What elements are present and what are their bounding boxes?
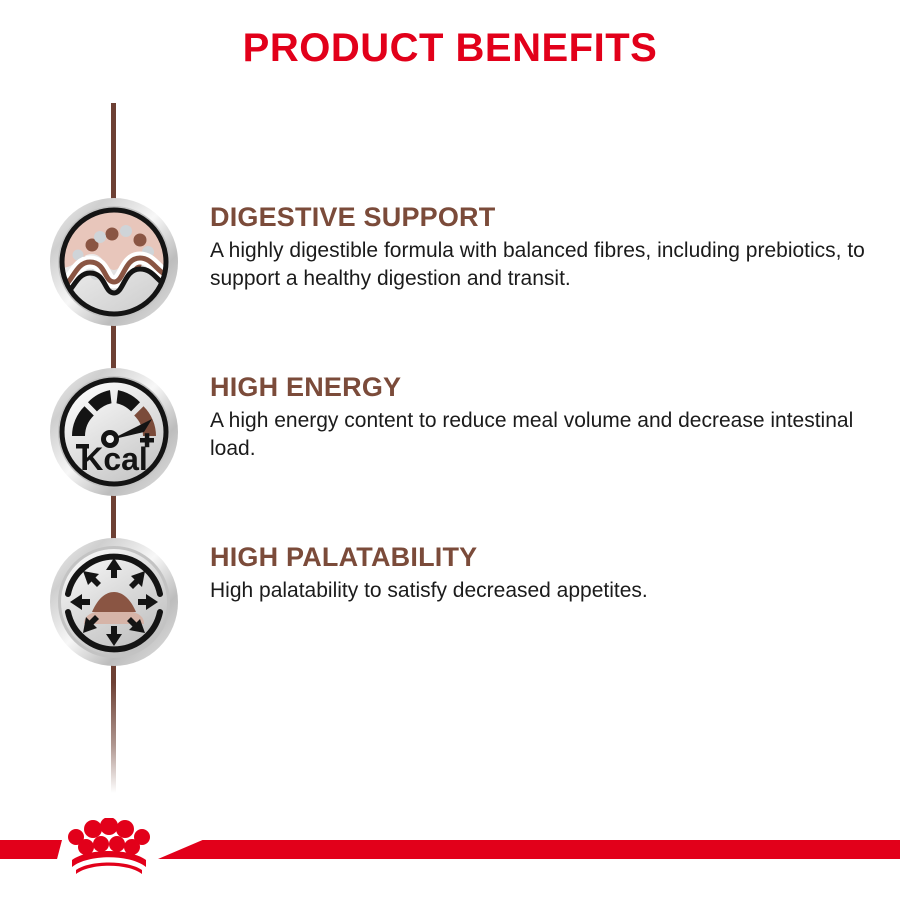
high-energy-kcal-gauge-icon: Kcal — [48, 366, 180, 498]
benefit-title: DIGESTIVE SUPPORT — [210, 202, 880, 232]
benefit-text-block: HIGH PALATABILITY High palatability to s… — [210, 542, 880, 605]
footer-brand-bar — [0, 800, 900, 900]
benefit-description: A high energy content to reduce meal vol… — [210, 407, 875, 463]
footer-bar-right-segment — [158, 840, 900, 859]
benefit-description: High palatability to satisfy decreased a… — [210, 577, 875, 605]
digestive-support-icon — [48, 196, 180, 328]
footer-bar-left-segment — [0, 840, 62, 859]
gauge-kcal-label: Kcal — [80, 441, 148, 477]
benefit-text-block: DIGESTIVE SUPPORT A highly digestible fo… — [210, 202, 880, 293]
royal-canin-crown-logo — [56, 818, 162, 880]
benefit-description: A highly digestible formula with balance… — [210, 237, 875, 293]
benefit-text-block: HIGH ENERGY A high energy content to red… — [210, 372, 880, 463]
page-title: PRODUCT BENEFITS — [0, 26, 900, 71]
benefit-title: HIGH ENERGY — [210, 372, 880, 402]
benefit-title: HIGH PALATABILITY — [210, 542, 880, 572]
high-palatability-bowl-icon — [48, 536, 180, 668]
